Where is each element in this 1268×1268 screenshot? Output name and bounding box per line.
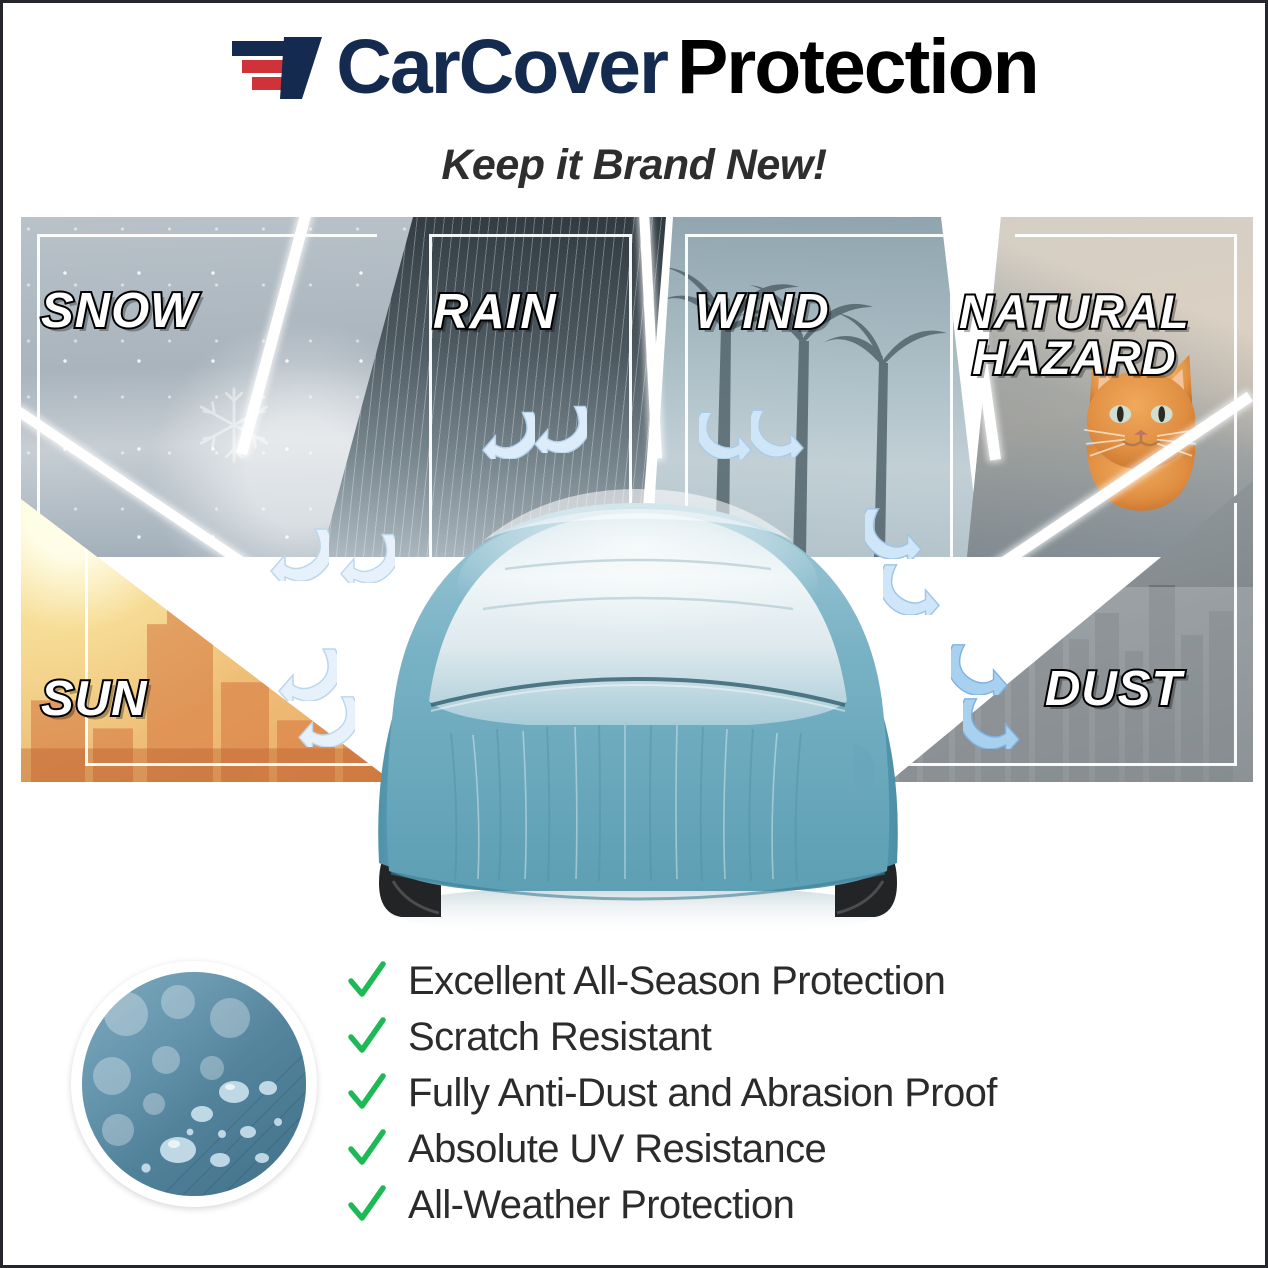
panel-hazard (967, 217, 1253, 557)
feature-label: Fully Anti-Dust and Abrasion Proof (408, 1071, 997, 1116)
covered-car-product (333, 433, 943, 948)
deflect-arrow-icon (699, 407, 753, 459)
deflect-arrow-icon (883, 559, 941, 615)
panel-inner-frame (37, 234, 377, 557)
panel-label-dust: DUST (1045, 665, 1182, 713)
list-item: All-Weather Protection (348, 1179, 997, 1231)
list-item: Absolute UV Resistance (348, 1123, 997, 1175)
header: CarCover Protection Keep it Brand New! (3, 3, 1265, 213)
feature-label: Excellent All-Season Protection (408, 959, 945, 1004)
green-check-icon (348, 1129, 386, 1169)
water-droplets-icon (82, 972, 306, 1196)
deflect-arrow-icon (963, 693, 1021, 749)
panel-label-rain: RAIN (433, 288, 557, 336)
green-check-icon (348, 1017, 386, 1057)
green-check-icon (348, 961, 386, 1001)
brand-word: Protection (677, 29, 1038, 106)
panel-label-sun: SUN (41, 675, 147, 723)
deflect-arrow-icon (339, 529, 395, 583)
panel-label-wind: WIND (695, 288, 830, 336)
deflect-arrow-icon (533, 401, 587, 453)
deflect-arrow-icon (865, 503, 923, 559)
water-beading-fabric-closeup (82, 972, 306, 1196)
deflect-arrow-icon (269, 523, 329, 581)
car-cover-image (333, 433, 943, 948)
deflect-arrow-icon (481, 407, 535, 459)
green-check-icon (348, 1073, 386, 1113)
icarcover-wing-logo (230, 35, 326, 101)
panel-label-snow: SNOW (41, 287, 197, 335)
feature-label: Absolute UV Resistance (408, 1127, 826, 1172)
panel-inner-frame (1015, 234, 1237, 557)
panel-label-hazard: NATURAL HAZARD (959, 289, 1190, 381)
brand-lockup: CarCover Protection (3, 29, 1265, 106)
feature-label: Scratch Resistant (408, 1015, 711, 1060)
deflect-arrow-icon (751, 405, 805, 457)
fabric-swatch (71, 961, 317, 1207)
feature-list: Excellent All-Season Protection Scratch … (348, 955, 997, 1231)
brand-name: CarCover (336, 29, 667, 106)
list-item: Excellent All-Season Protection (348, 955, 997, 1007)
deflect-arrow-icon (297, 691, 355, 747)
green-check-icon (348, 1185, 386, 1225)
tagline: Keep it Brand New! (3, 141, 1265, 190)
feature-label: All-Weather Protection (408, 1183, 794, 1228)
list-item: Fully Anti-Dust and Abrasion Proof (348, 1067, 997, 1119)
list-item: Scratch Resistant (348, 1011, 997, 1063)
deflect-arrow-icon (951, 639, 1009, 695)
